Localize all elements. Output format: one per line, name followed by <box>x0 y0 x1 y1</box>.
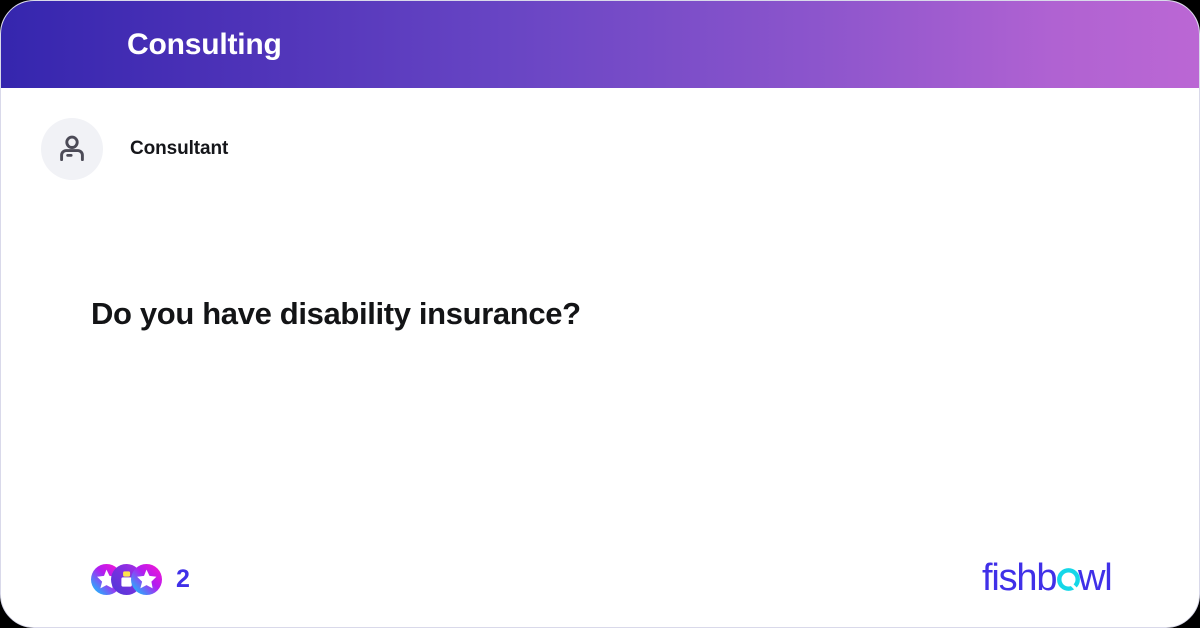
card-body: Consultant Do you have disability insura… <box>1 88 1199 627</box>
reactions[interactable]: 2 <box>91 564 190 595</box>
fishbowl-logo: fishb wl <box>982 557 1124 601</box>
avatar <box>41 118 103 180</box>
post-question: Do you have disability insurance? <box>91 295 1139 334</box>
card-header: Consulting <box>1 1 1199 88</box>
reaction-badge-stack[interactable] <box>91 564 162 595</box>
user-icon <box>55 132 89 166</box>
reaction-count: 2 <box>176 567 190 592</box>
star-reaction-icon[interactable] <box>131 564 162 595</box>
page-title: Consulting <box>127 30 282 60</box>
svg-text:wl: wl <box>1077 557 1112 599</box>
svg-text:fishb: fishb <box>982 557 1056 599</box>
author-row: Consultant <box>41 118 228 180</box>
card-footer: 2 fishb wl <box>1 531 1199 627</box>
author-name: Consultant <box>130 138 228 160</box>
post-card: Consulting Consultant Do you have disabi… <box>0 0 1200 628</box>
